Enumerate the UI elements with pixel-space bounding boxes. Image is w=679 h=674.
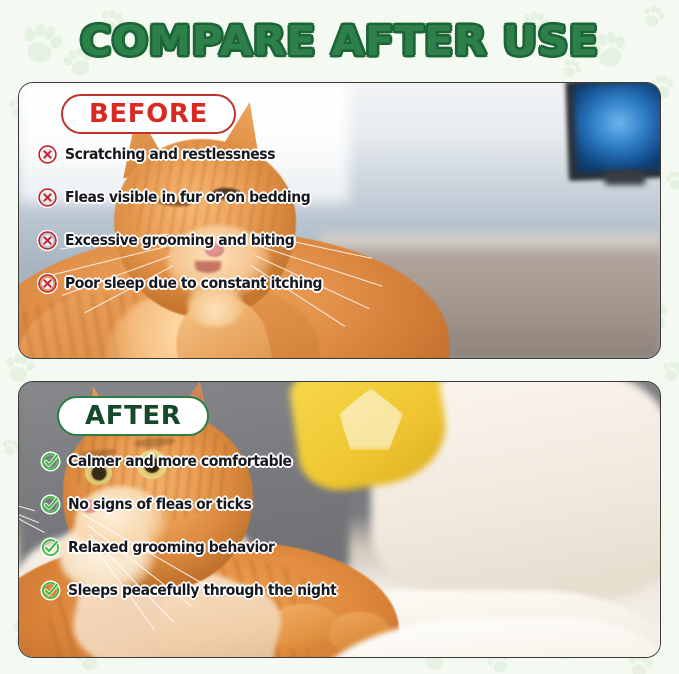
list-item-label: Relaxed grooming behavior: [68, 538, 275, 556]
after-badge: AFTER: [57, 396, 209, 436]
circle-check-icon: [40, 494, 61, 515]
before-badge: BEFORE: [61, 94, 236, 134]
after-bullet-list: Calmer and more comfortable No signs of …: [40, 450, 357, 601]
comparison-infographic: COMPARE AFTER USE: [0, 0, 679, 674]
circle-check-icon: [40, 580, 61, 601]
list-item: Excessive grooming and biting: [37, 229, 341, 251]
list-item: No signs of fleas or ticks: [40, 493, 357, 515]
list-item: Sleeps peacefully through the night: [40, 579, 357, 601]
before-card: BEFORE Scratching and restlessness: [18, 82, 661, 359]
after-badge-label: AFTER: [85, 403, 181, 429]
circle-check-icon: [40, 451, 61, 472]
list-item: Poor sleep due to constant itching: [37, 272, 341, 294]
before-bullet-list: Scratching and restlessness Fleas visibl…: [37, 143, 341, 294]
circle-x-icon: [37, 144, 58, 165]
page-title-container: COMPARE AFTER USE: [18, 0, 661, 82]
page-title: COMPARE AFTER USE: [80, 17, 598, 65]
list-item: Relaxed grooming behavior: [40, 536, 357, 558]
circle-x-icon: [37, 187, 58, 208]
list-item: Scratching and restlessness: [37, 143, 341, 165]
list-item-label: Excessive grooming and biting: [65, 231, 294, 249]
list-item-label: Sleeps peacefully through the night: [68, 581, 336, 599]
circle-x-icon: [37, 273, 58, 294]
list-item-label: Fleas visible in fur or on bedding: [65, 188, 310, 206]
circle-check-icon: [40, 537, 61, 558]
list-item: Calmer and more comfortable: [40, 450, 357, 472]
after-card: AFTER Calmer and more comfortable: [18, 381, 661, 658]
list-item-label: No signs of fleas or ticks: [68, 495, 251, 513]
list-item-label: Poor sleep due to constant itching: [65, 274, 322, 292]
circle-x-icon: [37, 230, 58, 251]
before-badge-label: BEFORE: [89, 101, 208, 127]
list-item-label: Scratching and restlessness: [65, 145, 275, 163]
list-item-label: Calmer and more comfortable: [68, 452, 292, 470]
list-item: Fleas visible in fur or on bedding: [37, 186, 341, 208]
